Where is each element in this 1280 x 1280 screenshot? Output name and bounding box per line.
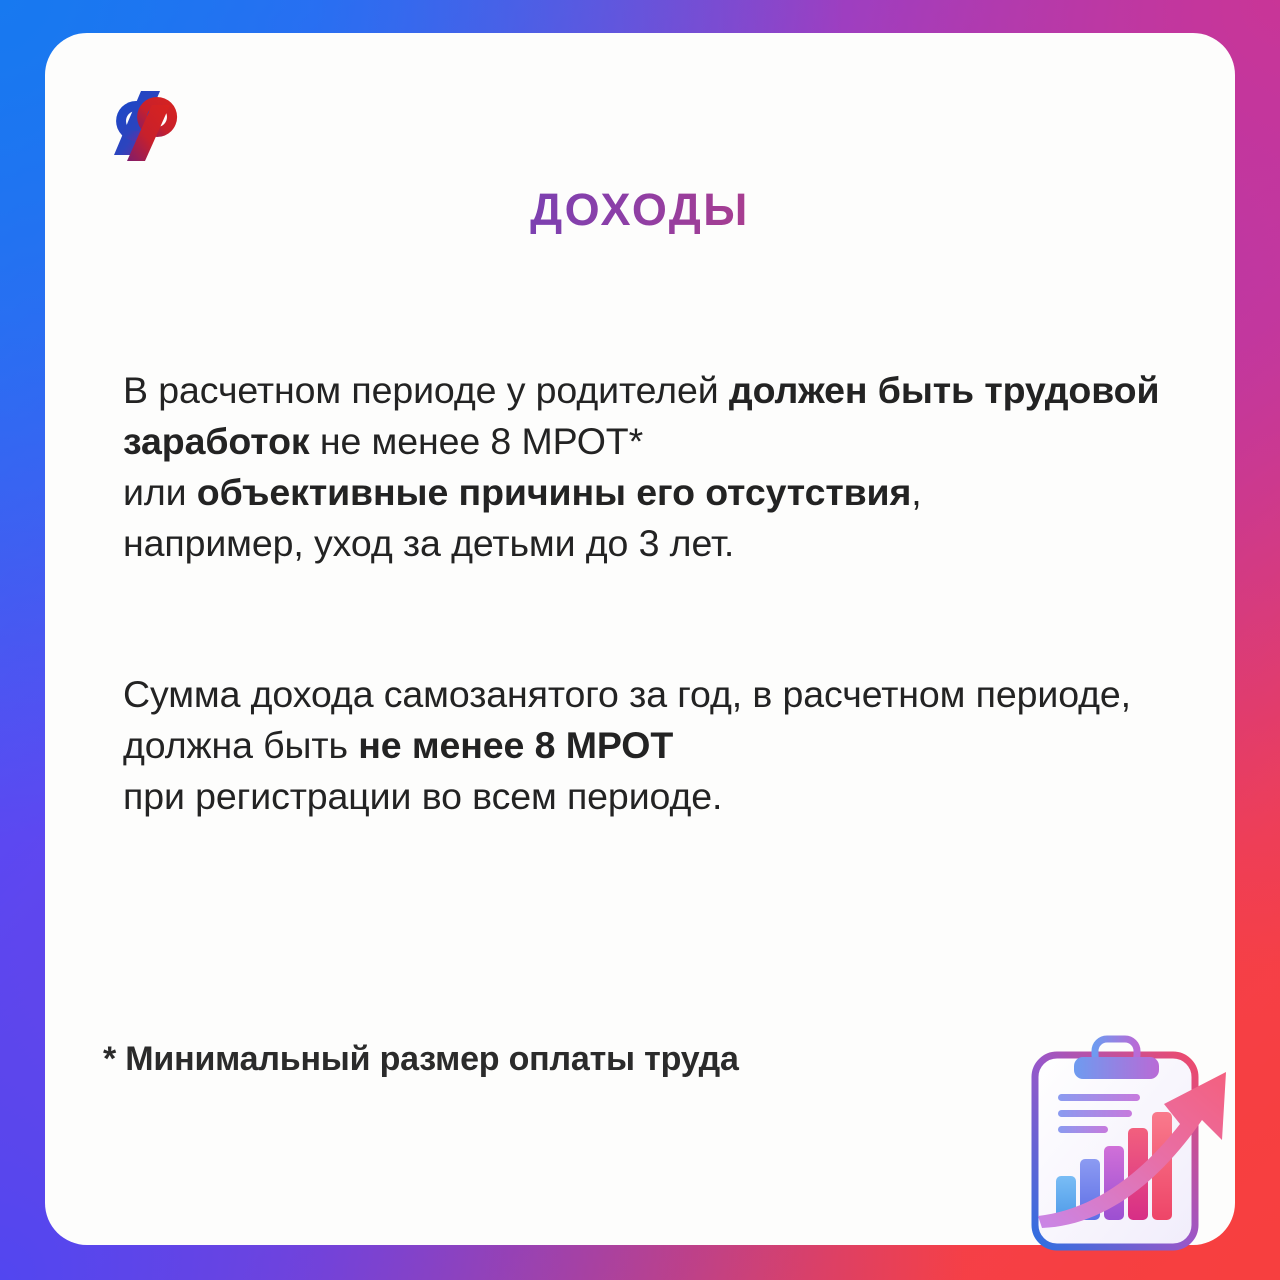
p1-run-5: объективные причины его отсутствия (197, 471, 911, 513)
paragraph-selfemployed-income: Сумма дохода самозанятого за год, в расч… (123, 669, 1183, 822)
clipboard-growth-chart-icon (1010, 1028, 1255, 1273)
p1-run-1: В расчетном периоде у родителей (123, 369, 729, 411)
socialnyy-fond-rossii-logo (100, 75, 196, 163)
p2-run-3: при регистрации во всем периоде. (123, 775, 722, 817)
footnote-mrot: * Минимальный размер оплаты труда (103, 1037, 1023, 1081)
content-card: ДОХОДЫ В расчетном периоде у родителей д… (45, 33, 1235, 1245)
p1-run-3: не менее 8 МРОТ* (310, 420, 644, 462)
p1-run-4: или (123, 471, 197, 513)
paragraph-income-requirement: В расчетном периоде у родителей должен б… (123, 365, 1183, 569)
page-title: ДОХОДЫ (45, 184, 1235, 236)
poster-slide: ДОХОДЫ В расчетном периоде у родителей д… (0, 0, 1280, 1280)
p1-run-7: например, уход за детьми до 3 лет. (123, 522, 734, 564)
p2-run-2: не менее 8 МРОТ (358, 724, 673, 766)
p1-run-6: , (911, 471, 921, 513)
